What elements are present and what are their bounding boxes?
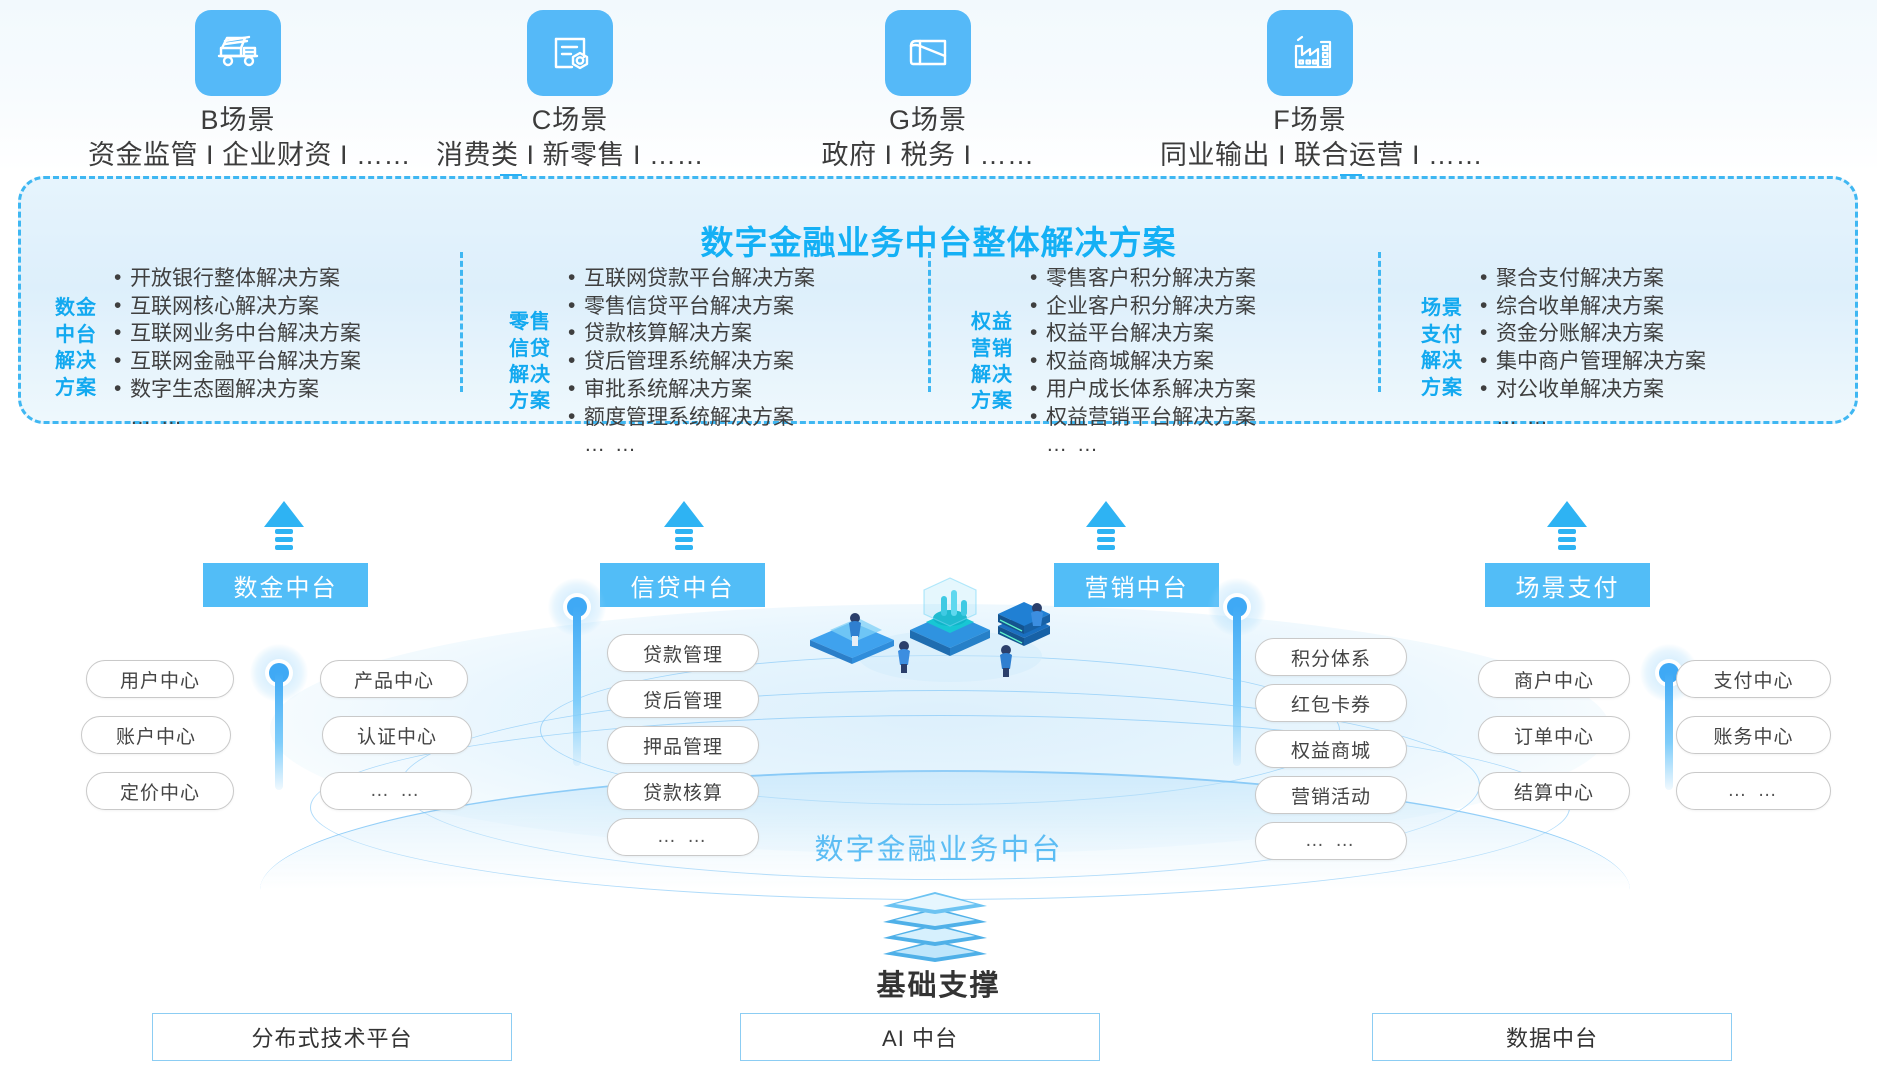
scenario-c: C场景 消费类 I 新零售 I …… [420,10,720,172]
scenario-f: F场景 同业输出 I 联合运营 I …… [1160,10,1460,172]
map-pin-credit [548,578,606,636]
scenario-subtitle: 资金监管 I 企业财资 I …… [88,138,388,173]
solution-item: 聚合支付解决方案 [1478,265,1832,293]
platform-chip-marketing[interactable]: 营销中台 [1054,563,1219,607]
scenario-subtitle: 同业输出 I 联合运营 I …… [1160,138,1460,173]
capability-card[interactable]: 贷款核算 [607,772,759,810]
solution-item: 贷款核算解决方案 [566,320,920,348]
solution-ellipsis: … … [1028,431,1392,459]
scenario-title: B场景 [88,104,388,138]
scenario-b: B场景 资金监管 I 企业财资 I …… [88,10,388,172]
solution-item: 零售客户积分解决方案 [1028,265,1392,293]
foundation-box-ai[interactable]: AI 中台 [740,1013,1100,1061]
capability-card[interactable]: 产品中心 [320,660,468,698]
solution-item: 企业客户积分解决方案 [1028,293,1392,321]
foundation-box-data[interactable]: 数据中台 [1372,1013,1732,1061]
diagram-canvas: B场景 资金监管 I 企业财资 I …… C场景 消费类 I 新零售 I …… [0,0,1877,1070]
document-search-icon [527,10,613,96]
capability-card[interactable]: 订单中心 [1478,716,1630,754]
capability-card[interactable]: 贷款管理 [607,634,759,672]
solution-category-label: 权益营销解决方案 [962,309,1022,415]
band-label: 数字金融业务中台 [0,826,1877,868]
capability-card[interactable]: … … [1676,772,1831,810]
map-flag-icon [885,10,971,96]
solution-item: 零售信贷平台解决方案 [566,293,920,321]
capability-card[interactable]: 商户中心 [1478,660,1630,698]
capability-card[interactable]: 认证中心 [322,716,472,754]
platform-chip-payment[interactable]: 场景支付 [1485,563,1650,607]
capability-card[interactable]: 账户中心 [81,716,231,754]
solution-item: 权益营销平台解决方案 [1028,404,1392,432]
capability-card[interactable]: 贷后管理 [607,680,759,718]
foundation-box-distributed[interactable]: 分布式技术平台 [152,1013,512,1061]
scenario-subtitle: 政府 I 税务 I …… [778,138,1078,173]
up-arrow-payment [1547,501,1587,557]
solution-item: 互联网核心解决方案 [112,293,446,321]
platform-chip-credit[interactable]: 信贷中台 [600,563,765,607]
scenario-subtitle: 消费类 I 新零售 I …… [420,138,720,173]
solution-column-shujin: 数金中台解决方案 开放银行整体解决方案 互联网核心解决方案 互联网业务中台解决方… [46,265,446,431]
solution-column-payment: 场景支付解决方案 聚合支付解决方案 综合收单解决方案 资金分账解决方案 集中商户… [1412,265,1832,431]
scenario-g: G场景 政府 I 税务 I …… [778,10,1078,172]
panel-divider-2 [928,252,931,392]
capability-card[interactable]: … … [1255,822,1407,860]
foundation-title: 基础支撑 [0,962,1877,1004]
solution-column-credit: 零售信贷解决方案 互联网贷款平台解决方案 零售信贷平台解决方案 贷款核算解决方案… [500,265,920,459]
solution-item: 综合收单解决方案 [1478,293,1832,321]
solution-ellipsis: … … [112,404,446,432]
solution-item: 互联网金融平台解决方案 [112,348,446,376]
capability-card[interactable]: 押品管理 [607,726,759,764]
capability-card[interactable]: 积分体系 [1255,638,1407,676]
solution-item: 数字生态圈解决方案 [112,376,446,404]
solution-item-list: 零售客户积分解决方案 企业客户积分解决方案 权益平台解决方案 权益商城解决方案 … [1028,265,1392,459]
capability-card[interactable]: 账务中心 [1676,716,1831,754]
up-arrow-credit [664,501,704,557]
solution-column-marketing: 权益营销解决方案 零售客户积分解决方案 企业客户积分解决方案 权益平台解决方案 … [962,265,1392,459]
panel-divider-1 [460,252,463,392]
solution-item: 开放银行整体解决方案 [112,265,446,293]
solution-item-list: 开放银行整体解决方案 互联网核心解决方案 互联网业务中台解决方案 互联网金融平台… [112,265,446,431]
solution-category-label: 数金中台解决方案 [46,295,106,401]
up-arrow-shujin [264,501,304,557]
solution-ellipsis: … … [1478,404,1832,432]
solution-item: 资金分账解决方案 [1478,320,1832,348]
solution-item: 额度管理系统解决方案 [566,404,920,432]
solution-category-label: 场景支付解决方案 [1412,295,1472,401]
panel-title: 数字金融业务中台整体解决方案 [0,216,1877,264]
solution-item: 贷后管理系统解决方案 [566,348,920,376]
solution-item: 权益商城解决方案 [1028,348,1392,376]
scenario-title: G场景 [778,104,1078,138]
scenario-title: F场景 [1160,104,1460,138]
map-pin-marketing [1208,578,1266,636]
capability-card[interactable]: … … [320,772,472,810]
solution-item: 用户成长体系解决方案 [1028,376,1392,404]
solution-item: 对公收单解决方案 [1478,376,1832,404]
solution-item: 互联网业务中台解决方案 [112,320,446,348]
solution-item-list: 聚合支付解决方案 综合收单解决方案 资金分账解决方案 集中商户管理解决方案 对公… [1478,265,1832,431]
solution-item-list: 互联网贷款平台解决方案 零售信贷平台解决方案 贷款核算解决方案 贷后管理系统解决… [566,265,920,459]
platform-chip-shujin[interactable]: 数金中台 [203,563,368,607]
layered-stack-icon [855,884,1015,964]
up-arrow-marketing [1086,501,1126,557]
solution-item: 互联网贷款平台解决方案 [566,265,920,293]
capability-card[interactable]: 红包卡券 [1255,684,1407,722]
capability-card[interactable]: 权益商城 [1255,730,1407,768]
scenario-title: C场景 [420,104,720,138]
capability-card[interactable]: … … [607,818,759,856]
factory-icon [1267,10,1353,96]
solution-item: 权益平台解决方案 [1028,320,1392,348]
solution-item: 审批系统解决方案 [566,376,920,404]
solution-category-label: 零售信贷解决方案 [500,309,560,415]
capability-card[interactable]: 支付中心 [1676,660,1831,698]
capability-card[interactable]: 结算中心 [1478,772,1630,810]
solution-ellipsis: … … [566,431,920,459]
capability-card[interactable]: 定价中心 [86,772,234,810]
capability-card[interactable]: 营销活动 [1255,776,1407,814]
capability-card[interactable]: 用户中心 [86,660,234,698]
map-pin-shujin [250,644,308,702]
solution-item: 集中商户管理解决方案 [1478,348,1832,376]
truck-cargo-icon [195,10,281,96]
